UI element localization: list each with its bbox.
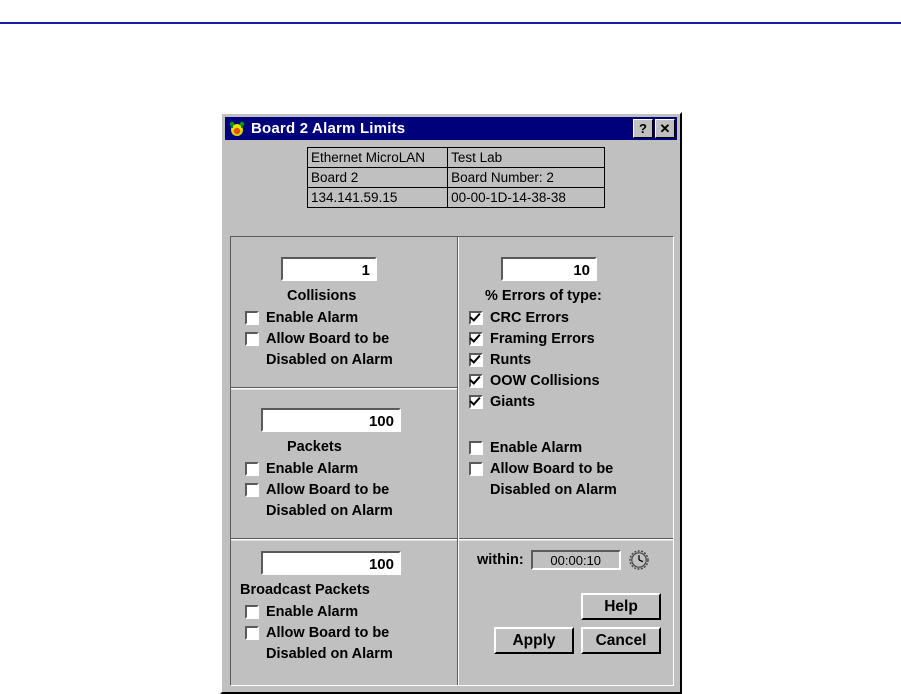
collisions-enable-alarm-label: Enable Alarm xyxy=(266,309,358,327)
within-label: within: xyxy=(477,552,524,568)
errors-enable-alarm-checkbox[interactable] xyxy=(469,441,483,455)
packets-caption: Packets xyxy=(287,438,342,456)
errors-caption: % Errors of type: xyxy=(485,287,602,305)
broadcast-packets-allow-disable-row[interactable]: Allow Board to be xyxy=(245,624,389,643)
packets-allow-disable-checkbox[interactable] xyxy=(245,483,259,497)
packets-threshold-input[interactable]: 100 xyxy=(261,408,401,432)
error-type-oow-collisions-label: OOW Collisions xyxy=(490,372,600,390)
broadcast-packets-caption: Broadcast Packets xyxy=(240,581,370,599)
broadcast-packets-allow-disable-checkbox[interactable] xyxy=(245,626,259,640)
error-type-framing-row[interactable]: Framing Errors xyxy=(469,330,595,349)
close-icon[interactable]: ✕ xyxy=(655,119,675,138)
collisions-allow-disable-row[interactable]: Allow Board to be xyxy=(245,330,389,349)
collisions-threshold-input[interactable]: 1 xyxy=(281,257,377,281)
page-divider-rule xyxy=(0,22,901,24)
error-type-oow-collisions-row[interactable]: OOW Collisions xyxy=(469,372,600,391)
collisions-caption: Collisions xyxy=(287,287,356,305)
right-column: 10 % Errors of type: CRC Errors Framing … xyxy=(458,237,673,685)
board-identity-table: Ethernet MicroLAN Test Lab Board 2 Board… xyxy=(307,147,605,208)
error-type-runts-row[interactable]: Runts xyxy=(469,351,531,370)
table-row: 134.141.59.15 00-00-1D-14-38-38 xyxy=(308,188,605,208)
within-duration-input[interactable]: 00:00:10 xyxy=(531,550,621,570)
help-button-row: Help xyxy=(459,593,673,620)
error-type-crc-row[interactable]: CRC Errors xyxy=(469,309,569,328)
dialog-title: Board 2 Alarm Limits xyxy=(251,120,633,137)
collisions-allow-disable-checkbox[interactable] xyxy=(245,332,259,346)
table-row: Ethernet MicroLAN Test Lab xyxy=(308,148,605,168)
packets-allow-disable-label: Allow Board to be xyxy=(266,481,389,499)
dialog-titlebar[interactable]: Board 2 Alarm Limits ? ✕ xyxy=(225,117,677,140)
alarm-limits-content: 1 Collisions Enable Alarm Allow Board to… xyxy=(230,236,674,686)
errors-group: 10 % Errors of type: CRC Errors Framing … xyxy=(459,237,673,539)
errors-enable-alarm-label: Enable Alarm xyxy=(490,439,582,457)
identity-cell-network: Ethernet MicroLAN xyxy=(308,148,448,168)
table-row: Board 2 Board Number: 2 xyxy=(308,168,605,188)
packets-enable-alarm-label: Enable Alarm xyxy=(266,460,358,478)
within-row: within: 00:00:10 xyxy=(459,539,673,571)
errors-allow-disable-label: Allow Board to be xyxy=(490,460,613,478)
error-type-giants-label: Giants xyxy=(490,393,535,411)
broadcast-packets-allow-disable-label: Allow Board to be xyxy=(266,624,389,642)
collisions-enable-alarm-row[interactable]: Enable Alarm xyxy=(245,309,358,328)
broadcast-packets-enable-alarm-checkbox[interactable] xyxy=(245,605,259,619)
errors-threshold-input[interactable]: 10 xyxy=(501,257,597,281)
errors-allow-disable-label-line2: Disabled on Alarm xyxy=(469,481,617,499)
help-titlebar-button[interactable]: ? xyxy=(633,119,653,138)
timing-and-actions-panel: within: 00:00:10 Help App xyxy=(459,539,673,684)
error-type-crc-checkbox[interactable] xyxy=(469,311,483,325)
apply-button[interactable]: Apply xyxy=(494,627,574,654)
alarm-limits-dialog: Board 2 Alarm Limits ? ✕ Ethernet MicroL… xyxy=(220,112,682,694)
broadcast-packets-group: 100 Broadcast Packets Enable Alarm Allow… xyxy=(231,539,457,684)
identity-cell-board-number: Board Number: 2 xyxy=(448,168,605,188)
error-type-runts-checkbox[interactable] xyxy=(469,353,483,367)
broadcast-packets-allow-disable-label-line2: Disabled on Alarm xyxy=(245,645,393,663)
collisions-group: 1 Collisions Enable Alarm Allow Board to… xyxy=(231,237,457,388)
error-type-giants-row[interactable]: Giants xyxy=(469,393,535,412)
broadcast-packets-enable-alarm-row[interactable]: Enable Alarm xyxy=(245,603,358,622)
error-type-crc-label: CRC Errors xyxy=(490,309,569,327)
identity-cell-ip-address: 134.141.59.15 xyxy=(308,188,448,208)
left-column: 1 Collisions Enable Alarm Allow Board to… xyxy=(231,237,458,685)
errors-allow-disable-row[interactable]: Allow Board to be xyxy=(469,460,613,479)
broadcast-packets-enable-alarm-label: Enable Alarm xyxy=(266,603,358,621)
error-type-oow-collisions-checkbox[interactable] xyxy=(469,374,483,388)
errors-allow-disable-checkbox[interactable] xyxy=(469,462,483,476)
identity-cell-site: Test Lab xyxy=(448,148,605,168)
collisions-allow-disable-label-line2: Disabled on Alarm xyxy=(245,351,393,369)
packets-allow-disable-label-line2: Disabled on Alarm xyxy=(245,502,393,520)
identity-cell-mac-address: 00-00-1D-14-38-38 xyxy=(448,188,605,208)
identity-cell-board: Board 2 xyxy=(308,168,448,188)
errors-enable-alarm-row[interactable]: Enable Alarm xyxy=(469,439,582,458)
error-type-framing-label: Framing Errors xyxy=(490,330,595,348)
help-button[interactable]: Help xyxy=(581,593,661,620)
collisions-allow-disable-label: Allow Board to be xyxy=(266,330,389,348)
alarm-bell-icon xyxy=(228,120,246,138)
cancel-button[interactable]: Cancel xyxy=(581,627,661,654)
action-button-row: Apply Cancel xyxy=(459,627,673,654)
packets-enable-alarm-row[interactable]: Enable Alarm xyxy=(245,460,358,479)
broadcast-packets-threshold-input[interactable]: 100 xyxy=(261,551,401,575)
packets-group: 100 Packets Enable Alarm Allow Board to … xyxy=(231,388,457,539)
error-type-framing-checkbox[interactable] xyxy=(469,332,483,346)
clock-icon[interactable] xyxy=(628,549,650,571)
error-type-giants-checkbox[interactable] xyxy=(469,395,483,409)
collisions-enable-alarm-checkbox[interactable] xyxy=(245,311,259,325)
titlebar-buttons: ? ✕ xyxy=(633,119,675,138)
packets-allow-disable-row[interactable]: Allow Board to be xyxy=(245,481,389,500)
error-type-runts-label: Runts xyxy=(490,351,531,369)
packets-enable-alarm-checkbox[interactable] xyxy=(245,462,259,476)
